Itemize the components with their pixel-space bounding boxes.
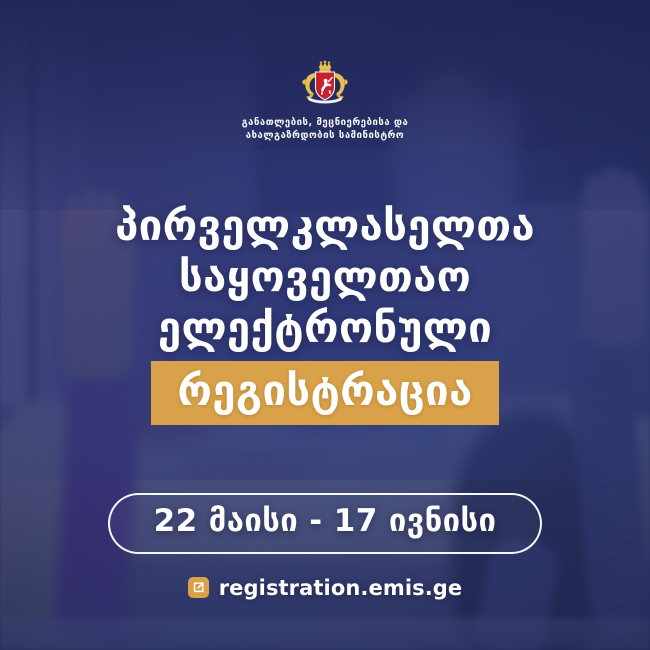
- ministry-line-1: განათლების, მეცნიერებისა და: [242, 116, 409, 129]
- poster-header: განათლების, მეცნიერებისა და ახალგაზრდობი…: [242, 60, 409, 143]
- registration-highlight-badge: რეგისტრაცია: [151, 361, 498, 425]
- poster-headline: პირველკლასელთა საყოველთაო ელექტრონული: [115, 200, 535, 353]
- headline-line-1: პირველკლასელთა: [115, 200, 535, 251]
- website-link-row[interactable]: registration.emis.ge: [188, 576, 463, 600]
- date-range-pill: 22 მაისი - 17 ივნისი: [108, 493, 543, 554]
- ministry-line-2: ახალგაზრდობის სამინისტრო: [242, 129, 409, 142]
- highlight-wrapper: რეგისტრაცია: [151, 361, 498, 425]
- external-link-icon[interactable]: [188, 577, 209, 598]
- headline-line-3: ელექტრონული: [115, 302, 535, 353]
- ministry-name: განათლების, მეცნიერებისა და ახალგაზრდობი…: [242, 116, 409, 143]
- website-url-text[interactable]: registration.emis.ge: [219, 576, 463, 600]
- georgian-coat-of-arms-icon: [299, 60, 351, 108]
- registration-poster: განათლების, მეცნიერებისა და ახალგაზრდობი…: [0, 0, 650, 650]
- headline-line-2: საყოველთაო: [115, 251, 535, 302]
